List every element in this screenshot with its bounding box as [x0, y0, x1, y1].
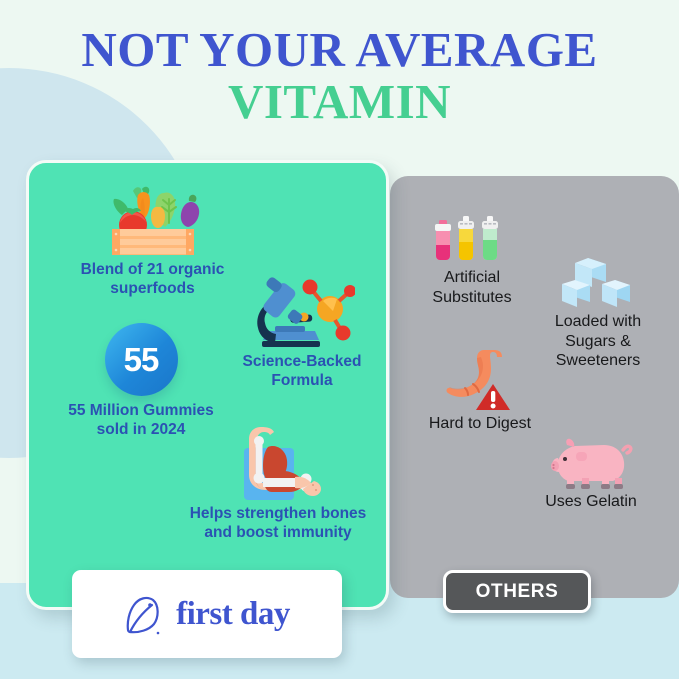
brand-logo-bar: first day [72, 570, 342, 658]
sugar-cubes-icon [559, 254, 637, 312]
count-badge-icon: 55 [105, 323, 178, 396]
vegetable-crate-icon [98, 185, 208, 261]
headline-line-2: VITAMIN [0, 78, 679, 126]
bird-logo-icon [124, 591, 166, 637]
stomach-warning-icon [443, 344, 517, 414]
microscope-molecule-icon [249, 271, 355, 353]
ours-item-label: Helps strengthen bones and boost immunit… [169, 505, 387, 543]
headline-line-1: NOT YOUR AVERAGE [0, 26, 679, 74]
ours-item-label: Science-Backed Formula [217, 353, 387, 391]
pig-icon [545, 434, 637, 492]
count-badge-value: 55 [105, 323, 178, 396]
dropper-bottles-icon [433, 206, 511, 268]
others-panel: Artificial Substitutes [390, 176, 679, 598]
ours-panel: Blend of 21 organic superfoods 55 55 Mil… [26, 160, 389, 610]
others-item-hard-to-digest: Hard to Digest [396, 344, 564, 434]
others-badge: OTHERS [443, 570, 591, 613]
ours-item-bones-immunity: Helps strengthen bones and boost immunit… [169, 421, 387, 543]
others-item-uses-gelatin: Uses Gelatin [508, 434, 674, 512]
others-item-label: Hard to Digest [396, 414, 564, 434]
flexed-bicep-bone-icon [228, 421, 328, 505]
comparison-infographic: NOT YOUR AVERAGE VITAMIN [0, 0, 679, 679]
ours-item-science-backed: Science-Backed Formula [217, 271, 387, 391]
others-item-label: Uses Gelatin [508, 492, 674, 512]
brand-name: first day [176, 596, 290, 633]
page-title: NOT YOUR AVERAGE VITAMIN [0, 26, 679, 126]
